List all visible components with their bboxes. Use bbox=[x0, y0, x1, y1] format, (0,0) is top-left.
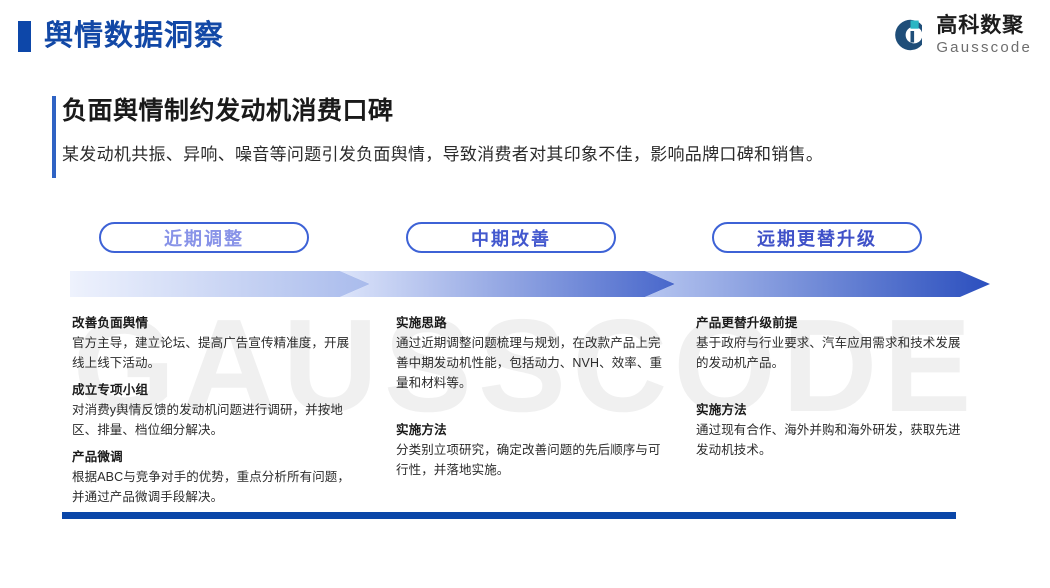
footer-accent-bar bbox=[62, 512, 956, 519]
block-body: 分类别立项研究，确定改善问题的先后顺序与可行性，并落地实施。 bbox=[396, 440, 668, 480]
block-heading: 实施方法 bbox=[396, 420, 668, 440]
column-long-term: 产品更替升级前提 基于政府与行业要求、汽车应用需求和技术发展的发动机产品。 实施… bbox=[696, 313, 968, 467]
header-marker-icon bbox=[18, 21, 31, 52]
content-block: 实施方法 通过现有合作、海外并购和海外研发，获取先进发动机技术。 bbox=[696, 400, 968, 460]
brand-logo: 高科数聚 Gausscode bbox=[889, 12, 1032, 58]
content-block: 实施方法 分类别立项研究，确定改善问题的先后顺序与可行性，并落地实施。 bbox=[396, 420, 668, 480]
block-body: 基于政府与行业要求、汽车应用需求和技术发展的发动机产品。 bbox=[696, 333, 968, 373]
page-title: 舆情数据洞察 bbox=[44, 16, 224, 56]
block-body: 官方主导，建立论坛、提高广告宣传精准度，开展线上线下活动。 bbox=[72, 333, 357, 373]
block-body: 通过现有合作、海外并购和海外研发，获取先进发动机技术。 bbox=[696, 420, 968, 460]
brand-logo-text: 高科数聚 Gausscode bbox=[936, 15, 1032, 55]
phase-pill-near-term[interactable]: 近期调整 bbox=[99, 222, 309, 253]
title-accent-bar bbox=[52, 96, 56, 178]
column-near-term: 改善负面舆情 官方主导，建立论坛、提高广告宣传精准度，开展线上线下活动。 成立专… bbox=[72, 313, 357, 514]
block-body: 根据ABC与竞争对手的优势，重点分析所有问题，并通过产品微调手段解决。 bbox=[72, 467, 357, 507]
block-body: 通过近期调整问题梳理与规划，在改款产品上完善中期发动机性能，包括动力、NVH、效… bbox=[396, 333, 668, 393]
sub-headline: 某发动机共振、异响、噪音等问题引发负面舆情，导致消费者对其印象不佳，影响品牌口碑… bbox=[62, 142, 823, 168]
gausscode-logo-icon bbox=[889, 16, 927, 54]
slide-canvas: GAUSSCODE 舆情数据洞察 高科数聚 Gausscode 负面舆情制约发动… bbox=[0, 0, 1050, 588]
block-spacer bbox=[696, 380, 968, 400]
slide-header: 舆情数据洞察 高科数聚 Gausscode bbox=[0, 0, 1050, 70]
brand-name-en: Gausscode bbox=[936, 40, 1032, 55]
content-block: 产品微调 根据ABC与竞争对手的优势，重点分析所有问题，并通过产品微调手段解决。 bbox=[72, 447, 357, 507]
phase-pill-long-term[interactable]: 远期更替升级 bbox=[712, 222, 922, 253]
block-heading: 实施方法 bbox=[696, 400, 968, 420]
content-block: 实施思路 通过近期调整问题梳理与规划，在改款产品上完善中期发动机性能，包括动力、… bbox=[396, 313, 668, 393]
block-heading: 实施思路 bbox=[396, 313, 668, 333]
content-block: 产品更替升级前提 基于政府与行业要求、汽车应用需求和技术发展的发动机产品。 bbox=[696, 313, 968, 373]
main-headline: 负面舆情制约发动机消费口碑 bbox=[62, 94, 823, 128]
block-heading: 成立专项小组 bbox=[72, 380, 357, 400]
block-spacer bbox=[396, 400, 668, 420]
column-mid-term: 实施思路 通过近期调整问题梳理与规划，在改款产品上完善中期发动机性能，包括动力、… bbox=[396, 313, 668, 487]
content-block: 成立专项小组 对消费y舆情反馈的发动机问题进行调研，并按地区、排量、档位细分解决… bbox=[72, 380, 357, 440]
phase-pill-mid-term[interactable]: 中期改善 bbox=[406, 222, 616, 253]
title-block: 负面舆情制约发动机消费口碑 某发动机共振、异响、噪音等问题引发负面舆情，导致消费… bbox=[62, 94, 823, 168]
block-heading: 改善负面舆情 bbox=[72, 313, 357, 333]
brand-name-cn: 高科数聚 bbox=[936, 15, 1032, 36]
block-heading: 产品更替升级前提 bbox=[696, 313, 968, 333]
block-body: 对消费y舆情反馈的发动机问题进行调研，并按地区、排量、档位细分解决。 bbox=[72, 400, 357, 440]
block-heading: 产品微调 bbox=[72, 447, 357, 467]
content-block: 改善负面舆情 官方主导，建立论坛、提高广告宣传精准度，开展线上线下活动。 bbox=[72, 313, 357, 373]
timeline-arrow bbox=[70, 263, 990, 305]
